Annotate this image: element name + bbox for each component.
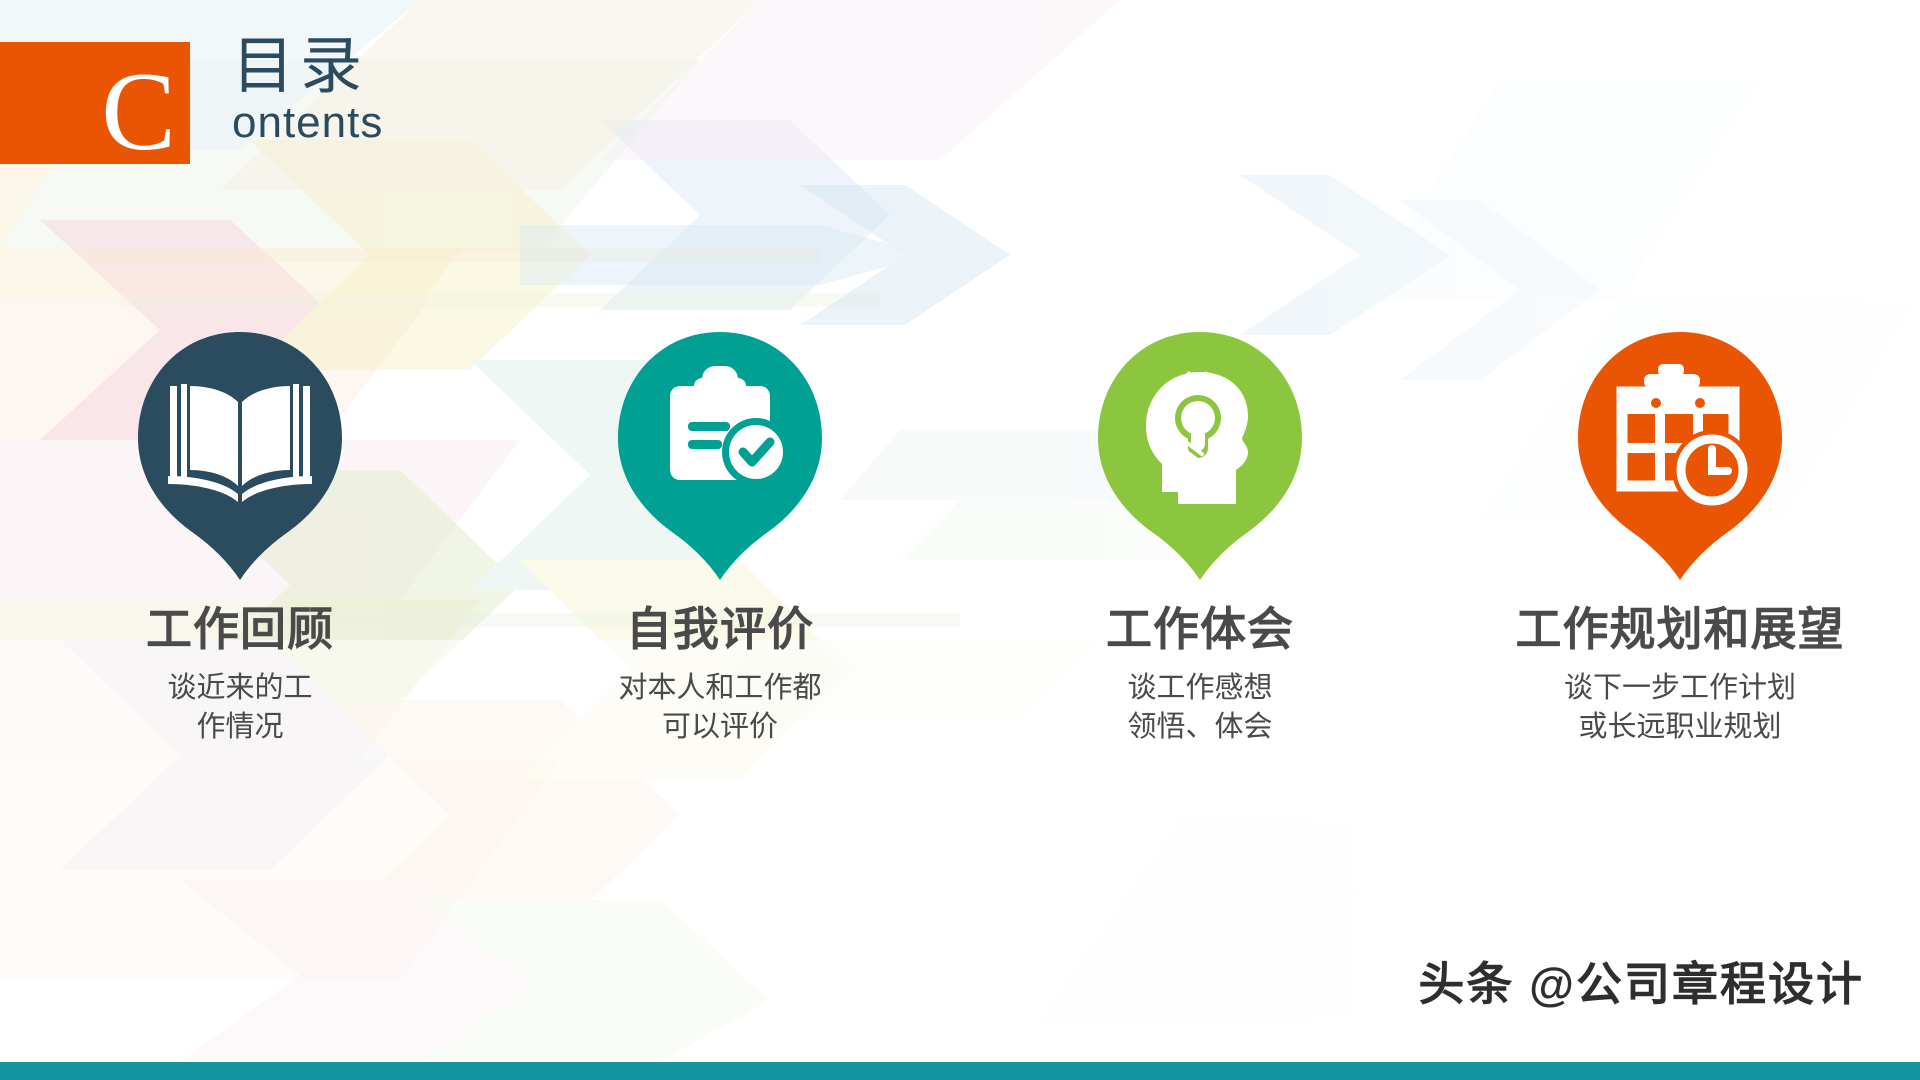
page-title-cn: 目录 xyxy=(232,34,383,99)
item-desc-1: 谈近来的工 作情况 xyxy=(167,669,312,747)
contents-item-row: 工作回顾 谈近来的工 作情况 xyxy=(0,330,1920,747)
item-title-4: 工作规划和展望 xyxy=(1516,604,1845,655)
pin-marker-2[interactable] xyxy=(610,330,830,582)
pin-shape-teal xyxy=(610,330,830,582)
pin-marker-1[interactable] xyxy=(130,330,350,582)
item-desc-4: 谈下一步工作计划 或长远职业规划 xyxy=(1564,669,1796,747)
pin-shape-orange xyxy=(1570,330,1790,582)
page-title-en: ontents xyxy=(232,101,383,145)
item-desc-2: 对本人和工作都 可以评价 xyxy=(618,669,821,747)
item-title-3: 工作体会 xyxy=(1106,604,1294,655)
slide-header: C 目录 ontents xyxy=(0,42,383,164)
pin-marker-3[interactable] xyxy=(1090,330,1310,582)
bottom-accent-bar xyxy=(0,1062,1920,1080)
contents-letter-badge: C xyxy=(0,42,190,164)
contents-item-3[interactable]: 工作体会 谈工作感想 领悟、体会 xyxy=(960,330,1440,747)
pin-shape-green xyxy=(1090,330,1310,582)
pin-marker-4[interactable] xyxy=(1570,330,1790,582)
header-title-group: 目录 ontents xyxy=(232,34,383,145)
watermark-text: 头条 @公司章程设计 xyxy=(1418,948,1864,1014)
badge-letter-c: C xyxy=(101,61,176,164)
contents-item-1[interactable]: 工作回顾 谈近来的工 作情况 xyxy=(0,330,480,747)
slide-canvas: C 目录 ontents xyxy=(0,0,1920,1080)
contents-item-4[interactable]: 工作规划和展望 谈下一步工作计划 或长远职业规划 xyxy=(1440,330,1920,747)
contents-item-2[interactable]: 自我评价 对本人和工作都 可以评价 xyxy=(480,330,960,747)
item-desc-3: 谈工作感想 领悟、体会 xyxy=(1127,669,1272,747)
item-title-2: 自我评价 xyxy=(626,604,814,655)
item-title-1: 工作回顾 xyxy=(146,604,334,655)
pin-shape-navy xyxy=(130,330,350,582)
